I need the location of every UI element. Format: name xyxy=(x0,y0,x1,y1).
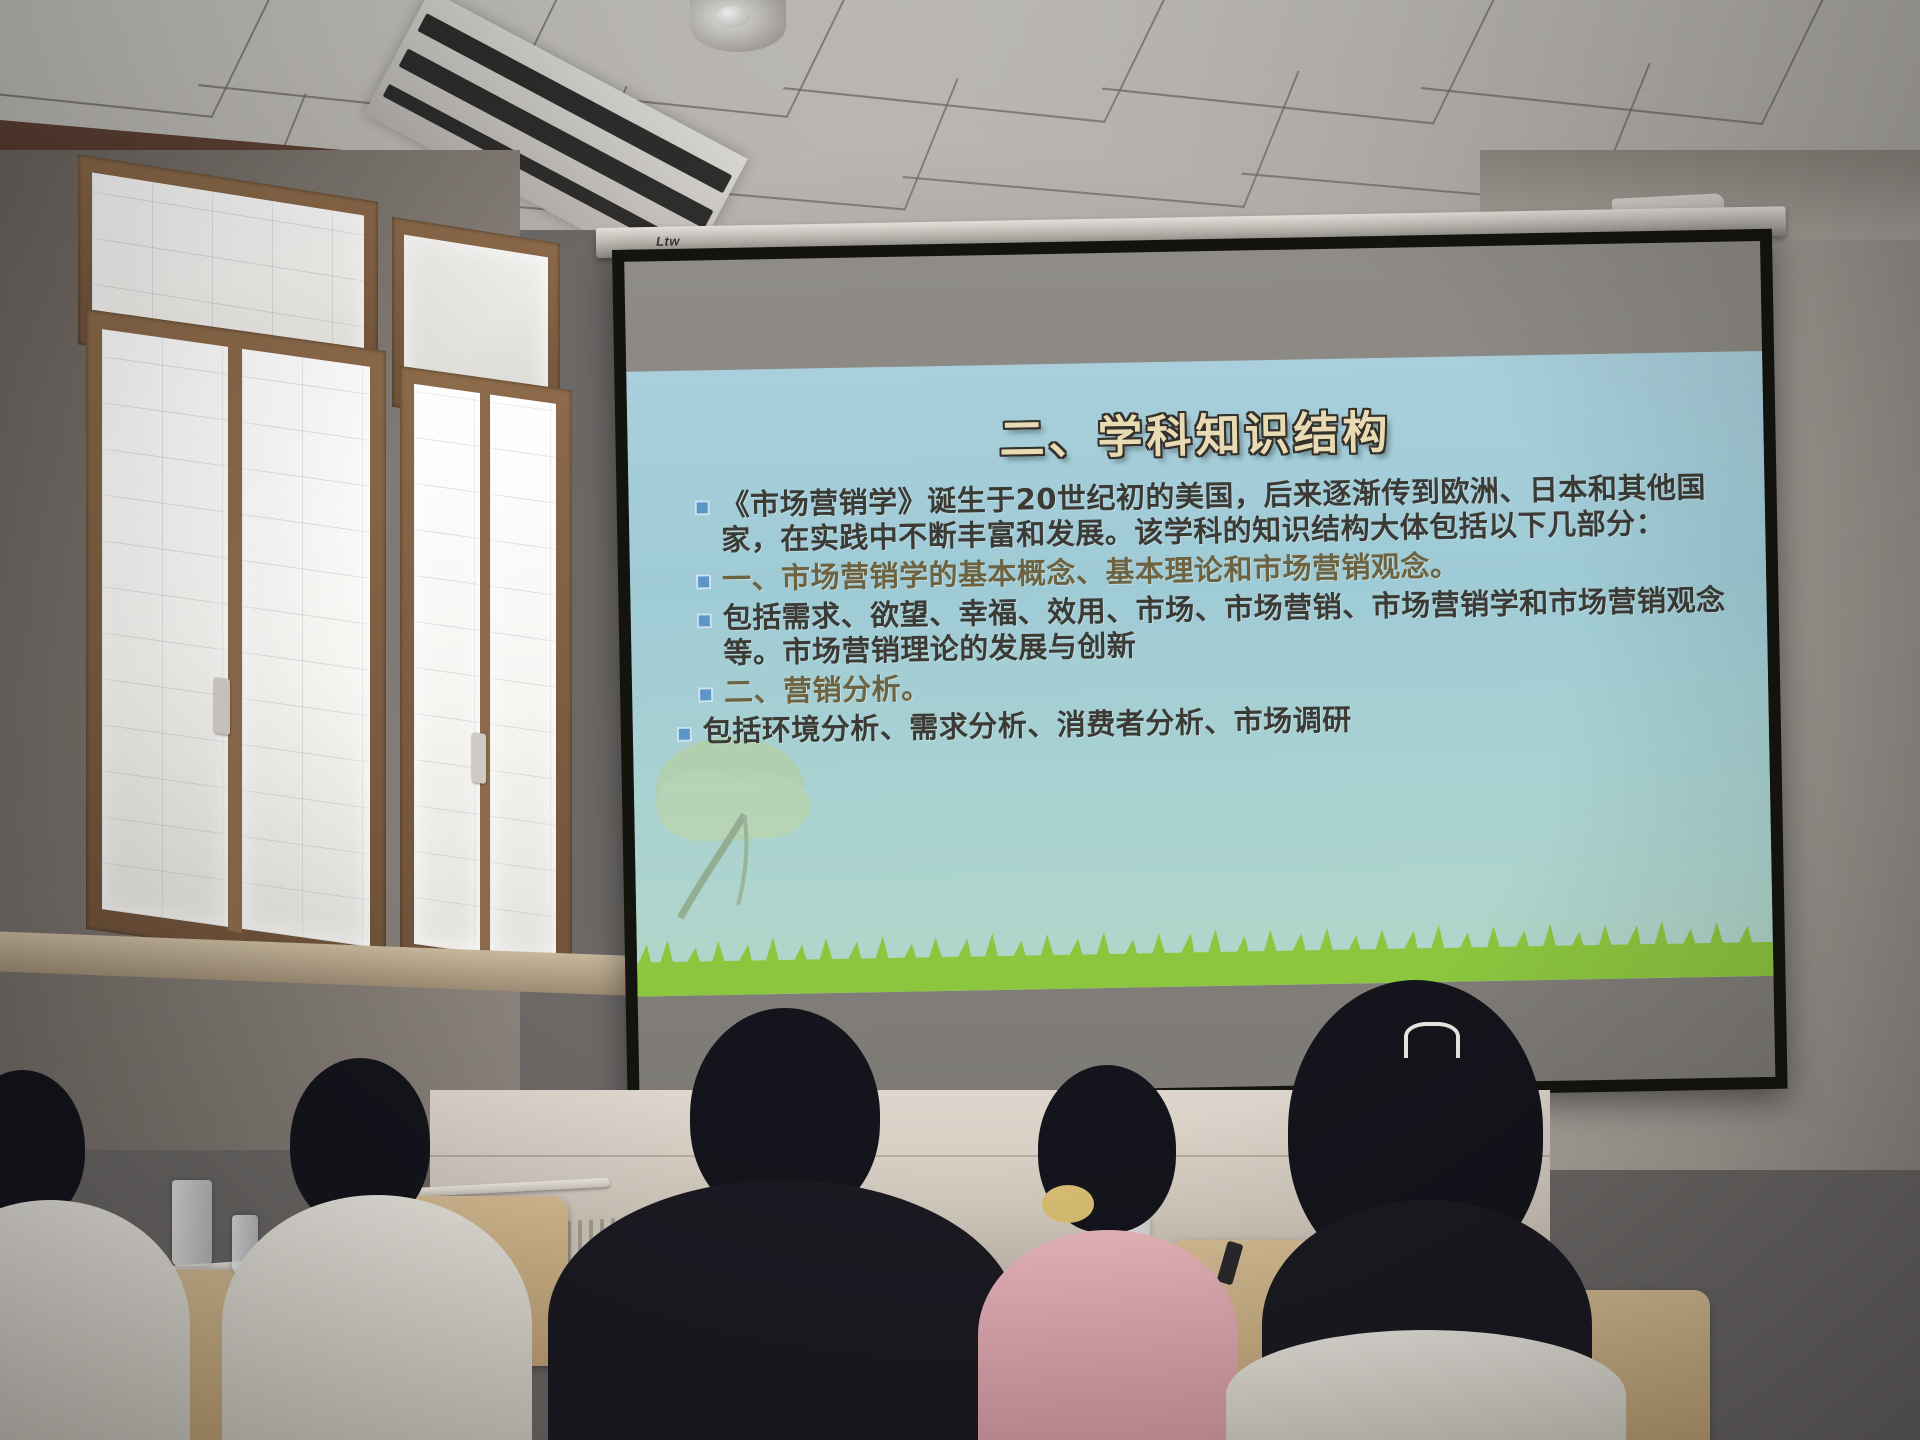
slide-bullet-3: 包括需求、欲望、幸福、效用、市场、市场营销、市场营销学和市场营销观念等。市场营销… xyxy=(696,583,1741,672)
tree-illustration-icon xyxy=(651,725,845,928)
slide-title: 二、学科知识结构 xyxy=(627,389,1764,475)
screen-surface: 二、学科知识结构 《市场营销学》诞生于20世纪初的美国，后来逐渐传到欧洲、日本和… xyxy=(624,241,1775,1098)
projection-screen: 二、学科知识结构 《市场营销学》诞生于20世纪初的美国，后来逐渐传到欧洲、日本和… xyxy=(612,229,1788,1110)
window-handle-left[interactable] xyxy=(214,677,230,735)
projected-slide: 二、学科知识结构 《市场营销学》诞生于20世纪初的美国，后来逐渐传到欧洲、日本和… xyxy=(626,351,1773,997)
square-bullet-icon xyxy=(696,574,711,589)
square-bullet-icon xyxy=(698,688,713,703)
ceiling-dome-light xyxy=(690,0,786,52)
grass-illustration-icon xyxy=(637,916,1774,997)
water-bottle-left[interactable] xyxy=(172,1180,212,1266)
slide-bullet-3-text: 包括需求、欲望、幸福、效用、市场、市场营销、市场营销学和市场营销观念等。市场营销… xyxy=(722,583,1741,672)
window-main-right xyxy=(400,366,572,990)
slide-bullet-1-text: 《市场营销学》诞生于20世纪初的美国，后来逐渐传到欧洲、日本和其他国家，在实践中… xyxy=(720,469,1739,558)
window-handle-right[interactable] xyxy=(472,732,486,784)
square-bullet-icon xyxy=(695,500,710,515)
slide-body: 《市场营销学》诞生于20世纪初的美国，后来逐渐传到欧洲、日本和其他国家，在实践中… xyxy=(694,469,1743,754)
square-bullet-icon xyxy=(697,613,712,628)
scrunchie-accessory xyxy=(1042,1185,1094,1223)
window-main-left xyxy=(86,309,386,971)
screen-brand-logo: Ltw xyxy=(656,233,680,248)
classroom-photo: Ltw xyxy=(0,0,1920,1440)
hair-clip-accessory xyxy=(1404,1022,1460,1058)
slide-bullet-1: 《市场营销学》诞生于20世纪初的美国，后来逐渐传到欧洲、日本和其他国家，在实践中… xyxy=(694,469,1739,558)
square-bullet-icon xyxy=(677,727,692,742)
